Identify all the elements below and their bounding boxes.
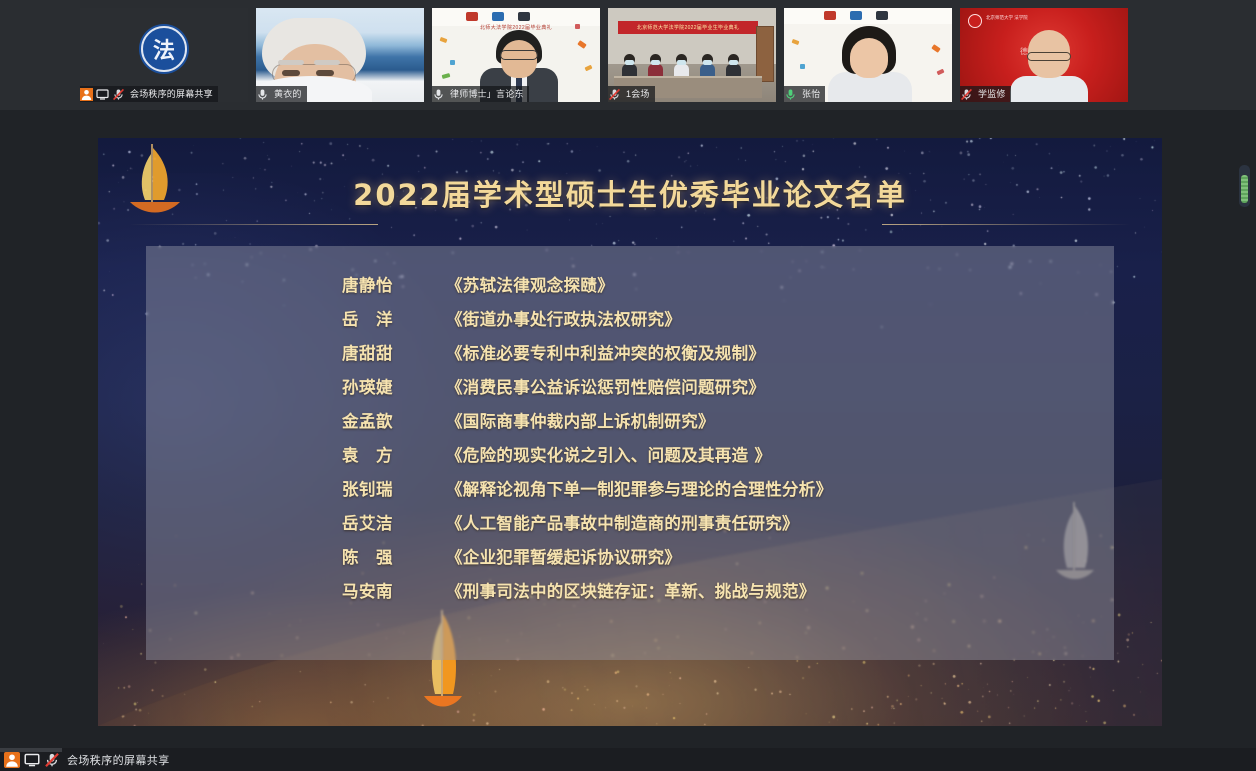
participant-name-6: 学监修 [976,88,1006,101]
thesis-entry-list: 唐静怡《苏轼法律观念探赜》岳 洋《街道办事处行政执法权研究》唐甜甜《标准必要专利… [342,272,1090,612]
shared-slide[interactable]: 2022届学术型硕士生优秀毕业论文名单 唐静怡《苏轼法律观念探赜》岳 洋《街道办… [98,138,1162,726]
thesis-title: 《危险的现实化说之引入、问题及其再造 》 [446,442,771,466]
host-badge-icon [4,752,20,768]
thesis-entry-row: 陈 强《企业犯罪暂缓起诉协议研究》 [342,544,1090,578]
thesis-author-name: 袁 方 [342,442,446,466]
room-banner-4: 北京师范大学法学院2022届毕业生毕业典礼 [618,21,758,34]
audio-level-indicator[interactable] [1239,165,1250,207]
thesis-entry-row: 金孟歆《国际商事仲裁内部上诉机制研究》 [342,408,1090,442]
screen-share-status-bar: 会场秩序的屏幕共享 [0,748,1256,771]
thesis-author-name: 金孟歆 [342,408,446,432]
participant-thumbnail-3[interactable]: 北师大法学院2022届毕业典礼 [432,8,600,102]
slide-title: 2022届学术型硕士生优秀毕业论文名单 [353,172,907,214]
thesis-author-name: 岳 洋 [342,306,446,330]
thesis-title: 《国际商事仲裁内部上诉机制研究》 [446,408,715,432]
mic-icon [432,88,445,101]
thesis-entry-row: 岳艾洁《人工智能产品事故中制造商的刑事责任研究》 [342,510,1090,544]
title-rule-left [128,224,378,225]
shared-screen-stage: 2022届学术型硕士生优秀毕业论文名单 唐静怡《苏轼法律观念探赜》岳 洋《街道办… [0,110,1256,748]
thesis-entry-row: 唐静怡《苏轼法律观念探赜》 [342,272,1090,306]
participant-thumbnail-6[interactable]: 北京师范大学 法学院 德言新 学监修 [960,8,1128,102]
conference-app-window: 法 会场秩序的屏幕共享 [0,0,1256,771]
law-school-logo: 法 [141,26,187,72]
thesis-entry-row: 袁 方《危险的现实化说之引入、问题及其再造 》 [342,442,1090,476]
thesis-title: 《人工智能产品事故中制造商的刑事责任研究》 [446,510,799,534]
thesis-author-name: 孙瑛婕 [342,374,446,398]
slide-title-area: 2022届学术型硕士生优秀毕业论文名单 [98,172,1162,214]
participant-name-1: 会场秩序的屏幕共享 [128,88,213,101]
university-logo-6 [968,14,982,28]
participant-namebar-2: 黄衣的 [256,86,307,102]
statusbar-divider [0,748,62,752]
screen-share-status-label: 会场秩序的屏幕共享 [67,752,170,768]
thesis-entry-row: 岳 洋《街道办事处行政执法权研究》 [342,306,1090,340]
participant-name-3: 律师博士」言论东 [448,88,524,101]
left-rail [0,220,98,771]
thesis-author-name: 张钊瑞 [342,476,446,500]
thesis-title: 《消费民事公益诉讼惩罚性赔偿问题研究》 [446,374,765,398]
screen-share-icon [96,88,109,101]
participant-thumbnail-1[interactable]: 法 会场秩序的屏幕共享 [80,8,248,102]
thesis-entry-row: 张钊瑞《解释论视角下单一制犯罪参与理论的合理性分析》 [342,476,1090,510]
thesis-author-name: 唐静怡 [342,272,446,296]
participant-filmstrip: 法 会场秩序的屏幕共享 [0,0,1256,110]
thesis-entry-row: 唐甜甜《标准必要专利中利益冲突的权衡及规制》 [342,340,1090,374]
thesis-title: 《苏轼法律观念探赜》 [446,272,614,296]
mic-active-icon [784,88,797,101]
mic-muted-icon [960,88,973,101]
thesis-title: 《解释论视角下单一制犯罪参与理论的合理性分析》 [446,476,832,500]
host-badge-icon [80,88,93,101]
participant-name-4: 1会场 [624,88,650,101]
participant-name-2: 黄衣的 [272,88,302,101]
thesis-title: 《街道办事处行政执法权研究》 [446,306,681,330]
mic-icon [256,88,269,101]
mic-muted-icon [44,752,60,768]
participant-name-5: 张怡 [800,88,820,101]
thesis-entry-row: 马安南《刑事司法中的区块链存证：革新、挑战与规范》 [342,578,1090,612]
thesis-author-name: 岳艾洁 [342,510,446,534]
participant-namebar-5: 张怡 [784,86,825,102]
participant-thumbnail-2[interactable]: 黄衣的 [256,8,424,102]
thesis-author-name: 陈 强 [342,544,446,568]
participant-namebar-3: 律师博士」言论东 [432,86,529,102]
slide-content-panel: 唐静怡《苏轼法律观念探赜》岳 洋《街道办事处行政执法权研究》唐甜甜《标准必要专利… [146,246,1114,660]
thesis-title: 《标准必要专利中利益冲突的权衡及规制》 [446,340,765,364]
screen-share-icon [24,752,40,768]
thesis-entry-row: 孙瑛婕《消费民事公益诉讼惩罚性赔偿问题研究》 [342,374,1090,408]
thesis-author-name: 马安南 [342,578,446,602]
participant-thumbnail-4[interactable]: 北京师范大学法学院2022届毕业生毕业典礼 1会场 [608,8,776,102]
participant-namebar-1: 会场秩序的屏幕共享 [80,86,218,102]
participant-namebar-6: 学监修 [960,86,1011,102]
participant-thumbnail-5[interactable]: 张怡 [784,8,952,102]
mic-muted-icon [112,88,125,101]
title-rule-right [882,224,1132,225]
thesis-title: 《刑事司法中的区块链存证：革新、挑战与规范》 [446,578,816,602]
mic-muted-icon [608,88,621,101]
audio-level-fill [1241,175,1248,203]
participant-namebar-4: 1会场 [608,86,655,102]
thesis-author-name: 唐甜甜 [342,340,446,364]
thesis-title: 《企业犯罪暂缓起诉协议研究》 [446,544,681,568]
university-logo-caption: 北京师范大学 法学院 [986,15,1028,21]
